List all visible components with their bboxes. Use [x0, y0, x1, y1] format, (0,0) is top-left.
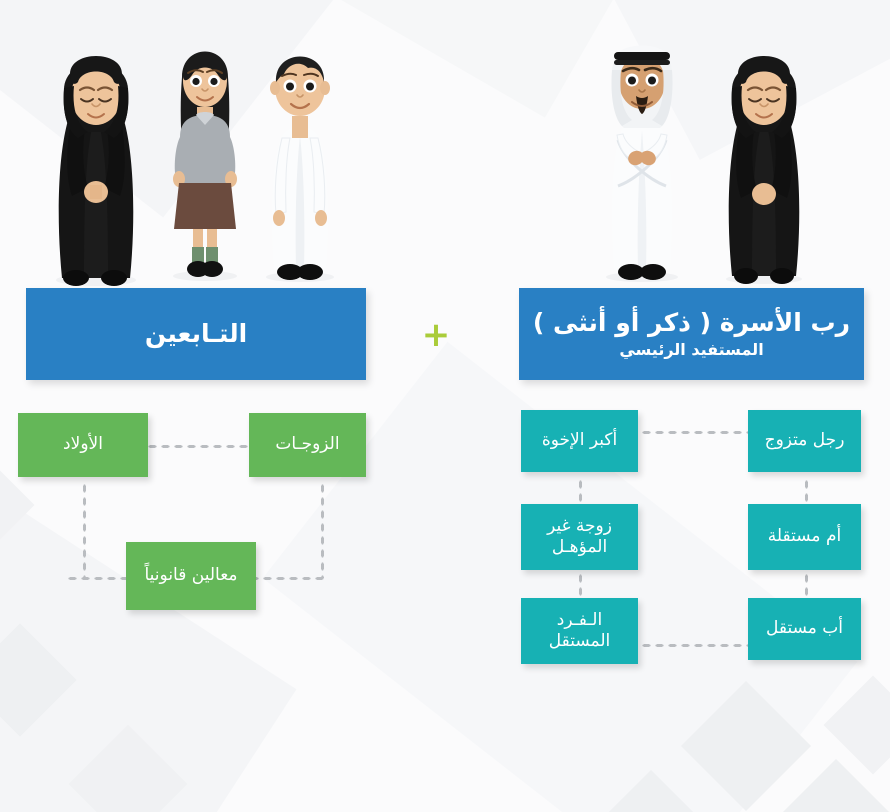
banner-head-of-family-title: رب الأسرة ( ذكر أو أنثى ) [533, 309, 850, 338]
banner-dependents[interactable]: التـابعين [26, 288, 366, 380]
connector-children-down [82, 482, 87, 578]
illustration-man-thobe-ghutra [592, 30, 692, 282]
node-wives-label: الزوجـات [275, 434, 339, 455]
connector-mother-to-father [804, 572, 809, 596]
connector-marriedman-to-mother [804, 478, 809, 502]
infographic-canvas: التـابعين + رب الأسرة ( ذكر أو أنثى ) ال… [0, 0, 890, 812]
banner-head-of-family[interactable]: رب الأسرة ( ذكر أو أنثى ) المستفيد الرئي… [519, 288, 864, 380]
connector-wives-down [320, 482, 325, 578]
node-unqualified-wife[interactable]: زوجة غير المؤهـل [521, 504, 638, 570]
illustration-girl-school [160, 33, 250, 281]
connector-eldest-to-wife [578, 478, 583, 502]
illustration-boy-thobe [252, 32, 348, 282]
node-wives[interactable]: الزوجـات [249, 413, 366, 477]
illustration-woman-abaya-right [710, 30, 818, 285]
banner-dependents-title: التـابعين [145, 320, 247, 349]
connector-top-row [640, 430, 748, 435]
connector-wife-to-individual [578, 572, 583, 596]
connector-children-wives [146, 444, 252, 449]
illustration-woman-abaya-left [40, 28, 152, 286]
node-independent-individual-label-line-2: المستقل [549, 631, 611, 652]
banner-head-of-family-subtitle: المستفيد الرئيسي [619, 340, 763, 359]
node-unqualified-wife-label-line-1: زوجة غير [547, 516, 612, 537]
node-independent-father[interactable]: أب مستقل [748, 598, 861, 660]
connector-bottom-row [640, 643, 748, 648]
node-children[interactable]: الأولاد [18, 413, 148, 477]
node-married-man-label: رجل متزوج [765, 430, 845, 451]
node-eldest-sibling[interactable]: أكبر الإخوة [521, 410, 638, 472]
node-legal-wards-label: معالين قانونياً [145, 565, 238, 586]
node-independent-mother[interactable]: أم مستقلة [748, 504, 861, 570]
node-children-label: الأولاد [63, 434, 103, 455]
plus-operator-icon: + [421, 320, 451, 350]
node-independent-father-label: أب مستقل [766, 618, 843, 639]
node-eldest-sibling-label: أكبر الإخوة [542, 430, 617, 451]
node-independent-individual-label-line-1: الـفـرد [557, 610, 602, 631]
node-independent-individual[interactable]: الـفـرد المستقل [521, 598, 638, 664]
node-legal-wards[interactable]: معالين قانونياً [126, 542, 256, 610]
node-independent-mother-label: أم مستقلة [768, 526, 841, 547]
node-married-man[interactable]: رجل متزوج [748, 410, 861, 472]
node-unqualified-wife-label-line-2: المؤهـل [552, 537, 607, 558]
